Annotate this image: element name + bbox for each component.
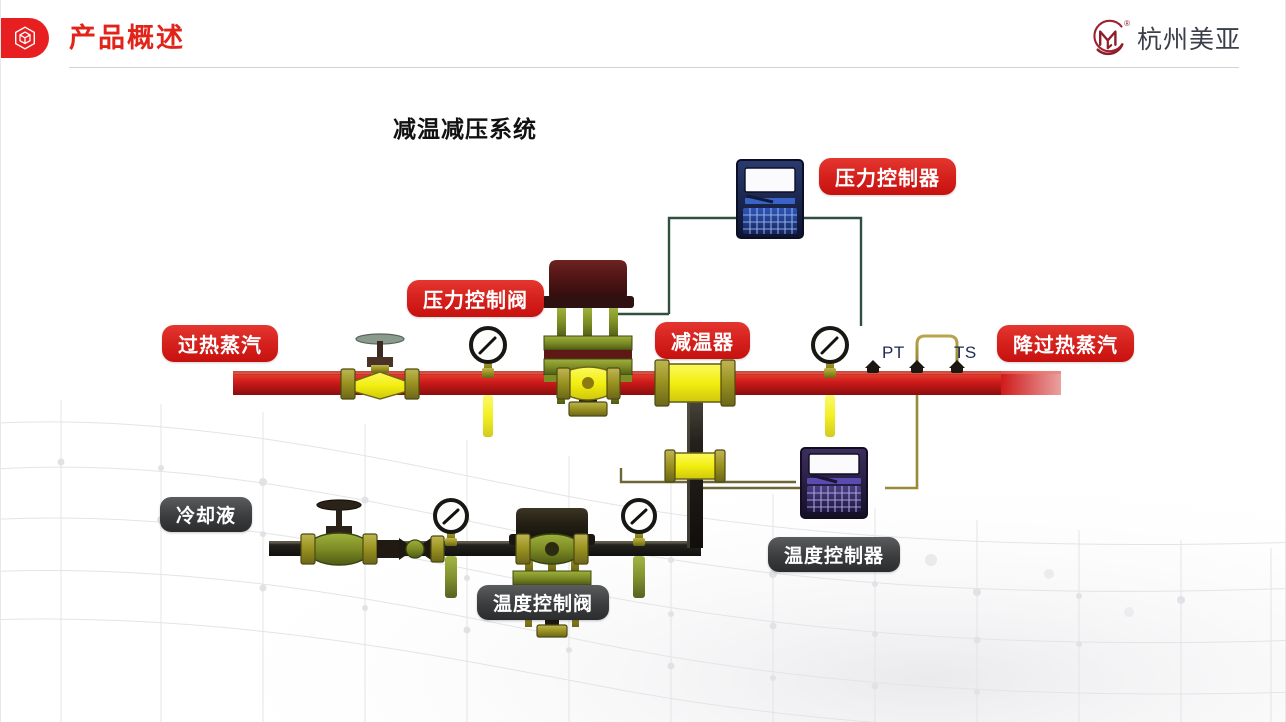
label-desuperheater[interactable]: 减温器: [655, 322, 750, 359]
temperature-valve-body: [516, 534, 588, 564]
desuperheater: [655, 360, 735, 406]
company-logo: ® 杭州美亚: [1087, 16, 1241, 60]
label-desuperheated-steam[interactable]: 降过热蒸汽: [997, 325, 1134, 362]
header-divider: [69, 67, 1239, 68]
label-temperature-controller[interactable]: 温度控制器: [768, 537, 900, 572]
tag-ts: TS: [954, 343, 977, 363]
coolant-riser: [665, 398, 725, 548]
coolant-strainer: [399, 536, 444, 562]
section-badge: [1, 18, 49, 58]
page-title: 产品概述: [69, 22, 185, 54]
cube-hexagon-icon: [12, 25, 38, 51]
page-header: 产品概述 ® 杭州美亚: [1, 0, 1286, 68]
company-name: 杭州美亚: [1137, 20, 1241, 56]
label-temperature-control-valve[interactable]: 温度控制阀: [477, 585, 609, 620]
piping-schematic: [1, 68, 1286, 722]
label-pressure-control-valve[interactable]: 压力控制阀: [407, 280, 544, 317]
tag-pt: PT: [882, 343, 905, 363]
circled-m-logo-icon: ®: [1087, 17, 1129, 59]
label-coolant[interactable]: 冷却液: [160, 497, 252, 532]
steam-gate-valve: [341, 334, 419, 399]
label-pressure-controller[interactable]: 压力控制器: [819, 158, 956, 195]
coolant-globe-valve: [301, 500, 399, 565]
label-superheated-steam[interactable]: 过热蒸汽: [162, 325, 278, 362]
temperature-controller-device: [801, 448, 867, 518]
registered-mark: ®: [1124, 19, 1130, 28]
pressure-controller-device: [737, 160, 803, 238]
slide-page: 产品概述 ® 杭州美亚 减温减压系统: [0, 0, 1286, 722]
system-diagram: 减温减压系统: [1, 68, 1286, 722]
